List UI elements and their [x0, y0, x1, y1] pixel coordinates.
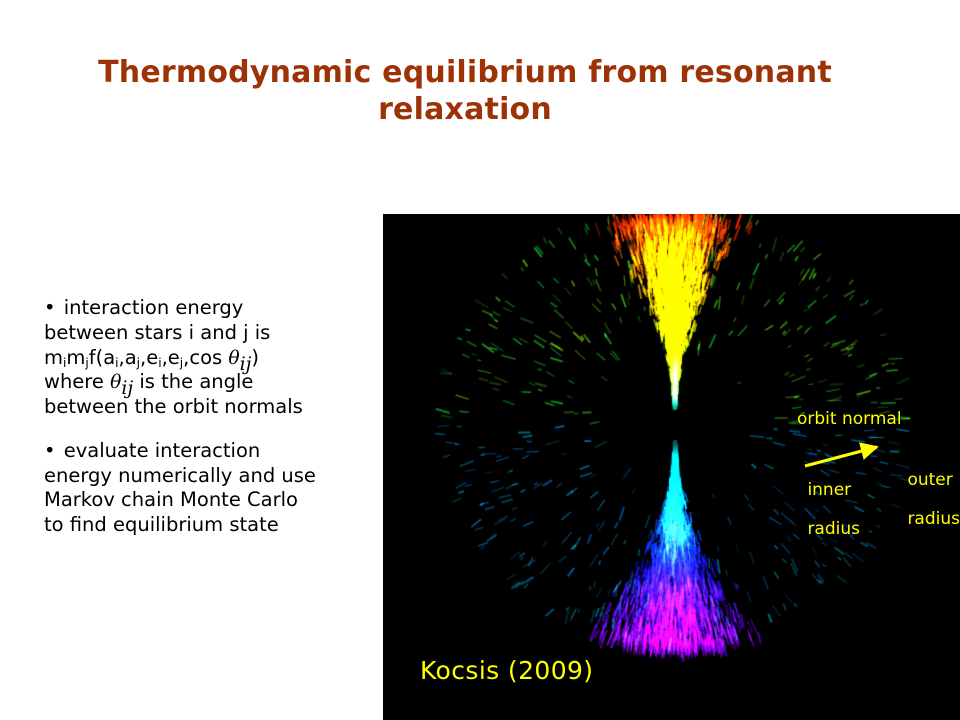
bullet-line: between the orbit normals — [44, 395, 364, 420]
annotation-inner-radius-line-2: radius — [807, 519, 860, 539]
annotation-outer-radius: outer radius — [875, 451, 960, 550]
slide: Thermodynamic equilibrium from resonant … — [0, 0, 960, 720]
bullet-line: to find equilibrium state — [44, 513, 364, 538]
annotation-outer-radius-line-2: radius — [907, 509, 960, 529]
annotation-orbit-normal: orbit normal — [797, 410, 902, 430]
bullet-line: where θij is the angle — [44, 370, 364, 395]
annotation-inner-radius-line-1: inner — [807, 480, 851, 500]
title-line-2: relaxation — [70, 92, 860, 129]
annotation-outer-radius-line-1: outer — [907, 470, 952, 490]
orbit-normal-scatter-canvas — [383, 214, 960, 720]
page-title: Thermodynamic equilibrium from resonant … — [70, 55, 860, 128]
bullet-marker: • — [44, 439, 58, 462]
annotation-inner-radius: inner radius — [775, 461, 860, 560]
bullet-item-markov-chain: • evaluate interaction energy numericall… — [44, 439, 364, 538]
bullet-marker: • — [44, 296, 58, 319]
bullet-list: • interaction energy between stars i and… — [44, 296, 364, 538]
bullet-line: Markov chain Monte Carlo — [44, 488, 364, 513]
title-line-1: Thermodynamic equilibrium from resonant — [70, 55, 860, 92]
figure-credit: Kocsis (2009) — [420, 656, 593, 685]
bullet-line: • evaluate interaction — [44, 439, 364, 464]
bullet-item-interaction-energy: • interaction energy between stars i and… — [44, 296, 364, 420]
simulation-figure: orbit normal inner radius outer radius K… — [383, 214, 960, 720]
bullet-line: between stars i and j is — [44, 321, 364, 346]
bullet-line-formula: mimjf(ai,aj,ei,ej,cos θij) — [44, 346, 364, 371]
bullet-line: energy numerically and use — [44, 464, 364, 489]
bullet-line: • interaction energy — [44, 296, 364, 321]
